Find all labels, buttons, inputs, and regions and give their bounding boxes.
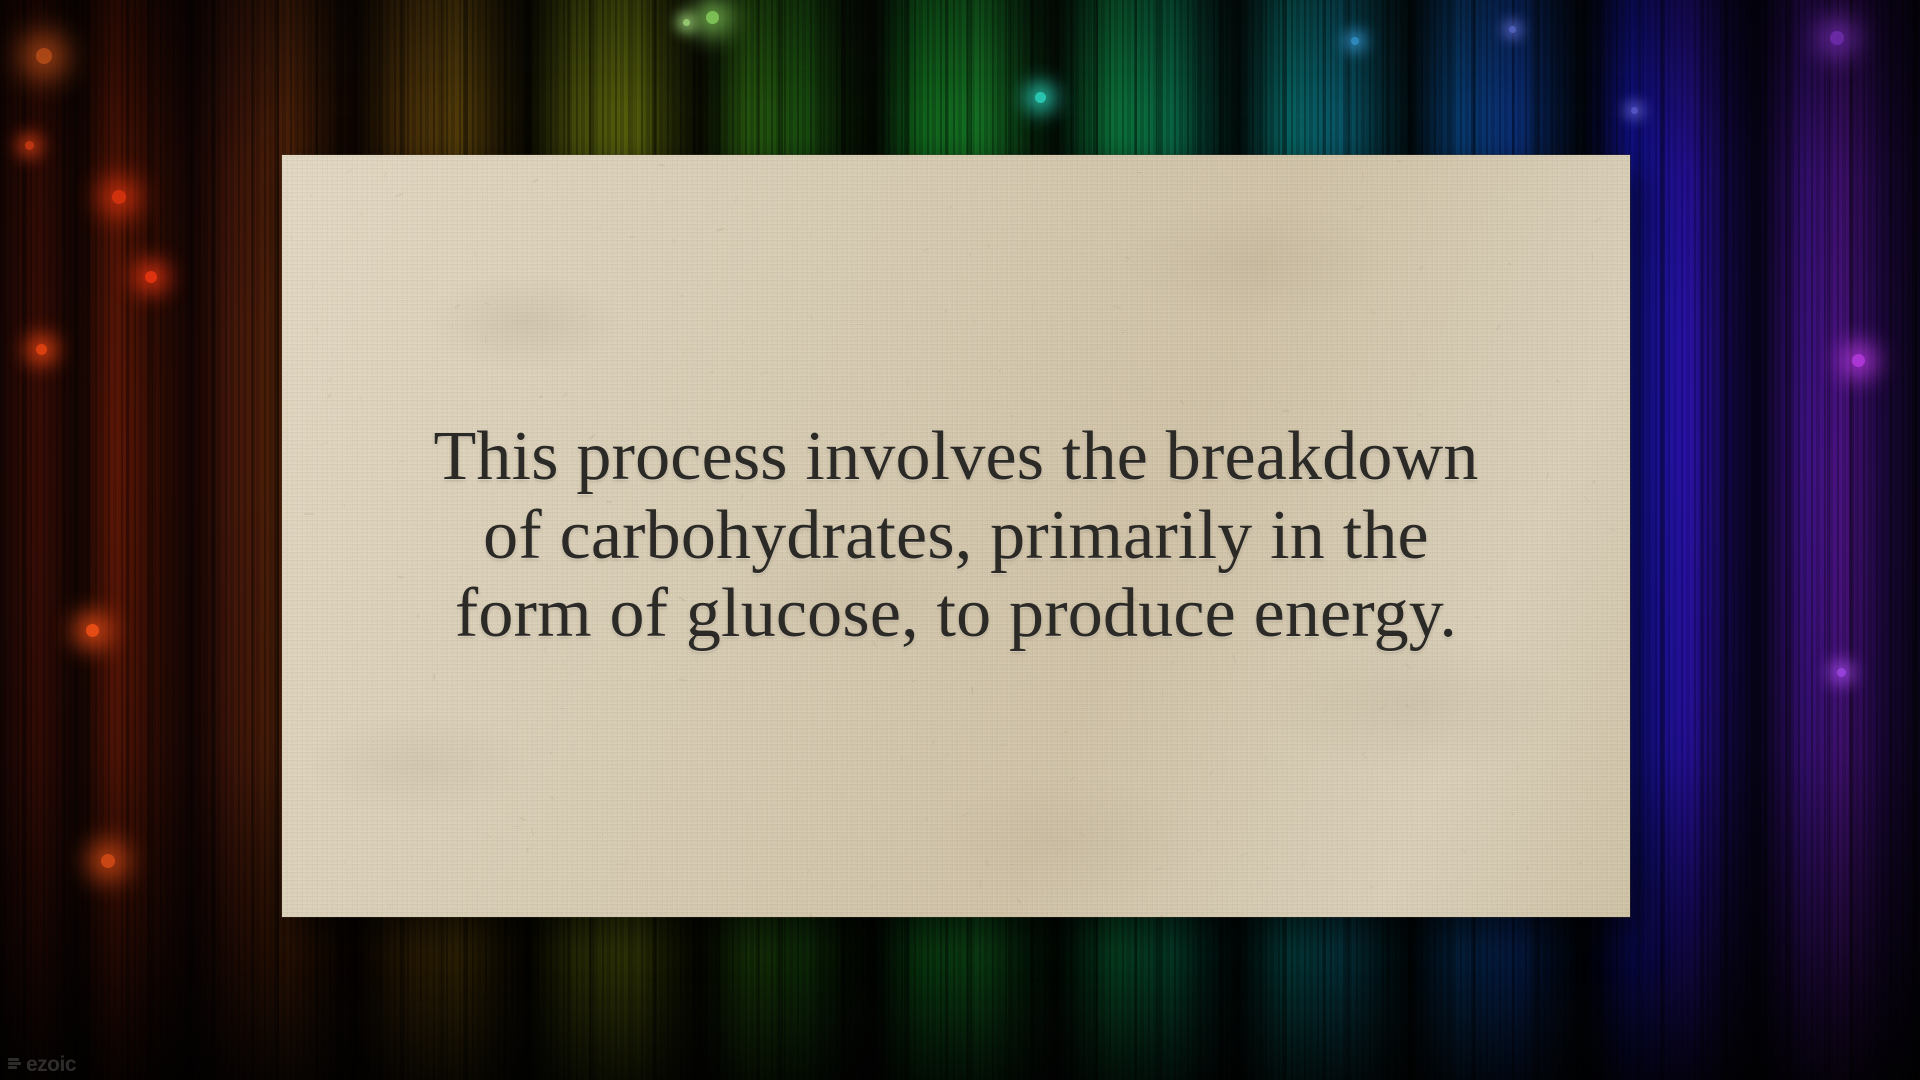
paper-fleck xyxy=(839,793,843,797)
paper-fleck xyxy=(483,301,491,305)
paper-fleck xyxy=(1593,480,1596,484)
paper-fleck xyxy=(484,833,492,839)
paper-fleck xyxy=(315,531,317,532)
paper-fleck xyxy=(817,270,819,272)
paper-fleck xyxy=(286,463,291,467)
paper-fleck xyxy=(347,168,353,173)
paper-fleck xyxy=(531,829,535,836)
paper-fleck xyxy=(310,194,312,198)
quote-card: This process involves the breakdown of c… xyxy=(282,155,1630,917)
paper-fleck xyxy=(312,281,316,288)
paper-fleck xyxy=(1353,207,1358,211)
paper-fleck xyxy=(512,699,515,703)
paper-fleck xyxy=(1380,702,1386,710)
paper-fleck xyxy=(1282,410,1290,412)
paper-fleck xyxy=(1556,379,1560,383)
paper-fleck xyxy=(359,396,363,403)
paper-fleck xyxy=(532,179,539,184)
paper-fleck xyxy=(319,441,328,446)
paper-fleck xyxy=(742,342,745,344)
paper-fleck xyxy=(1420,771,1424,777)
paper-fleck xyxy=(1210,909,1214,911)
paper-fleck xyxy=(621,398,623,400)
paper-fleck xyxy=(1358,205,1364,210)
paper-fleck xyxy=(304,513,314,515)
paper-fleck xyxy=(1571,747,1580,751)
paper-fleck xyxy=(1604,776,1605,778)
paper-fleck xyxy=(500,266,501,267)
paper-fleck xyxy=(1037,696,1040,698)
paper-fleck xyxy=(682,349,684,357)
paper-fleck xyxy=(1201,168,1207,171)
paper-fleck xyxy=(1069,776,1075,781)
paper-fleck xyxy=(290,235,292,240)
paper-fleck xyxy=(617,863,626,865)
paper-fleck xyxy=(1628,720,1630,727)
paper-fleck xyxy=(945,754,949,757)
paper-fleck xyxy=(1321,187,1322,189)
paper-fleck xyxy=(410,854,413,857)
paper-fleck xyxy=(869,886,874,888)
paper-fleck xyxy=(678,678,687,681)
paper-fleck xyxy=(733,197,737,202)
paper-fleck xyxy=(809,313,813,320)
paper-fleck xyxy=(979,880,981,889)
paper-fleck xyxy=(926,817,929,820)
paper-fleck xyxy=(1171,662,1175,665)
paper-fleck xyxy=(1216,821,1220,824)
paper-fleck xyxy=(1265,347,1268,351)
paper-fleck xyxy=(485,335,487,343)
quote-slide: This process involves the breakdown of c… xyxy=(0,0,1920,1080)
paper-fleck xyxy=(1461,849,1467,853)
paper-fleck xyxy=(1160,245,1169,247)
paper-fleck xyxy=(570,911,571,913)
paper-fleck xyxy=(1193,753,1201,758)
paper-fleck xyxy=(328,376,332,383)
paper-fleck xyxy=(999,370,1002,372)
paper-fleck xyxy=(760,370,768,375)
paper-fleck xyxy=(709,370,714,373)
paper-fleck xyxy=(1265,217,1272,221)
paper-fleck xyxy=(1511,813,1515,814)
paper-fleck xyxy=(562,662,567,668)
paper-fleck xyxy=(1078,832,1086,839)
paper-fleck xyxy=(1610,528,1617,532)
paper-fleck xyxy=(514,825,521,826)
paper-fleck xyxy=(1004,775,1008,776)
paper-fleck xyxy=(1079,253,1087,255)
paper-fleck xyxy=(1136,172,1143,174)
paper-fleck xyxy=(969,254,972,257)
paper-fleck xyxy=(316,327,319,335)
paper-fleck xyxy=(400,301,407,303)
paper-fleck xyxy=(565,673,570,674)
paper-fleck xyxy=(429,401,435,403)
paper-fleck xyxy=(948,205,951,208)
paper-fleck xyxy=(560,708,565,709)
paper-fleck xyxy=(1042,890,1044,892)
paper-fleck xyxy=(538,395,542,398)
paper-fleck xyxy=(579,313,587,318)
paper-fleck xyxy=(562,393,567,398)
paper-fleck xyxy=(694,655,699,658)
paper-fleck xyxy=(961,812,970,817)
paper-fleck xyxy=(1406,312,1409,315)
paper-fleck xyxy=(987,244,990,248)
paper-fleck xyxy=(1583,496,1589,503)
paper-fleck xyxy=(1397,160,1403,163)
paper-fleck xyxy=(1010,864,1012,865)
paper-fleck xyxy=(898,346,902,355)
paper-fleck xyxy=(395,193,404,198)
paper-fleck xyxy=(1341,355,1343,359)
paper-fleck xyxy=(1404,662,1413,670)
paper-fleck xyxy=(486,790,487,791)
paper-fleck xyxy=(348,292,355,296)
paper-fleck xyxy=(1166,857,1169,861)
paper-fleck xyxy=(1481,221,1483,224)
paper-fleck xyxy=(1179,399,1184,405)
paper-fleck xyxy=(972,318,976,324)
paper-fleck xyxy=(716,228,724,232)
paper-fleck xyxy=(1155,868,1163,870)
paper-fleck xyxy=(681,294,684,297)
paper-fleck xyxy=(298,703,302,713)
paper-fleck xyxy=(452,324,454,329)
paper-fleck xyxy=(602,835,604,837)
paper-fleck xyxy=(1369,886,1375,889)
paper-fleck xyxy=(931,739,937,744)
paper-fleck xyxy=(695,285,701,287)
paper-fleck xyxy=(1517,766,1519,770)
paper-fleck xyxy=(1496,323,1501,330)
paper-fleck xyxy=(901,755,903,762)
paper-fleck xyxy=(1122,331,1125,334)
paper-fleck xyxy=(971,687,973,694)
paper-fleck xyxy=(1196,849,1202,851)
paper-fleck xyxy=(1416,412,1424,417)
paper-fleck xyxy=(1498,264,1499,266)
paper-fleck xyxy=(1593,217,1602,223)
paper-fleck xyxy=(1529,905,1531,907)
paper-fleck xyxy=(454,303,461,309)
paper-fleck xyxy=(327,394,332,399)
paper-fleck xyxy=(433,673,436,681)
paper-fleck xyxy=(383,171,387,177)
paper-fleck xyxy=(911,679,915,683)
paper-fleck xyxy=(833,285,836,288)
paper-fleck xyxy=(389,903,392,909)
paper-fleck xyxy=(442,826,444,829)
paper-fleck xyxy=(1233,654,1237,663)
paper-fleck xyxy=(1487,415,1492,417)
paper-fleck xyxy=(594,227,603,229)
paper-fleck xyxy=(1208,771,1214,777)
paper-fleck xyxy=(996,271,1002,277)
paper-fleck xyxy=(1000,743,1007,747)
paper-fleck xyxy=(342,862,346,865)
paper-fleck xyxy=(945,309,947,313)
paper-fleck xyxy=(1369,308,1377,315)
paper-fleck xyxy=(1376,261,1378,268)
paper-fleck xyxy=(922,247,930,252)
paper-fleck xyxy=(1122,330,1129,332)
paper-fleck xyxy=(808,231,812,237)
paper-fleck xyxy=(1579,861,1583,864)
paper-fleck xyxy=(332,214,334,216)
paper-fleck xyxy=(343,503,345,507)
paper-fleck xyxy=(936,392,940,396)
paper-fleck xyxy=(331,352,333,355)
paper-fleck xyxy=(658,163,665,166)
paper-fleck xyxy=(1323,705,1327,715)
paper-fleck xyxy=(540,155,546,160)
paper-fleck xyxy=(1362,750,1366,756)
paper-fleck xyxy=(473,251,478,259)
paper-fleck xyxy=(1259,882,1260,883)
paper-fleck xyxy=(550,795,555,800)
paper-fleck xyxy=(1097,345,1100,350)
paper-fleck xyxy=(1627,317,1629,319)
paper-fleck xyxy=(1362,172,1364,179)
paper-fleck xyxy=(1239,853,1248,858)
paper-fleck xyxy=(1405,703,1410,707)
paper-fleck xyxy=(1278,401,1280,403)
paper-fleck xyxy=(1526,866,1529,870)
paper-fleck xyxy=(1125,255,1130,259)
paper-fleck xyxy=(1525,768,1527,770)
paper-fleck xyxy=(629,235,635,238)
paper-fleck xyxy=(1412,372,1415,376)
paper-fleck xyxy=(1113,306,1121,309)
paper-fleck xyxy=(617,678,620,681)
paper-fleck xyxy=(984,858,990,867)
paper-fleck xyxy=(360,212,362,215)
paper-fleck xyxy=(519,816,526,821)
paper-fleck xyxy=(1363,756,1366,759)
paper-fleck xyxy=(1318,267,1320,269)
quote-text: This process involves the breakdown of c… xyxy=(351,418,1561,653)
paper-fleck xyxy=(1031,302,1034,312)
paper-fleck xyxy=(526,848,529,853)
paper-fleck xyxy=(914,192,916,194)
paper-fleck xyxy=(1266,865,1270,869)
paper-fleck xyxy=(1064,731,1067,733)
paper-fleck xyxy=(704,832,707,834)
paper-fleck xyxy=(1203,733,1206,736)
paper-fleck xyxy=(1301,862,1306,866)
paper-fleck xyxy=(906,378,910,387)
paper-fleck xyxy=(884,229,890,235)
paper-fleck xyxy=(1591,252,1593,261)
paper-fleck xyxy=(1508,262,1511,265)
paper-fleck xyxy=(853,324,863,325)
paper-fleck xyxy=(807,869,810,874)
paper-fleck xyxy=(1475,682,1480,687)
paper-fleck xyxy=(549,752,552,755)
paper-fleck xyxy=(1266,755,1268,763)
paper-fleck xyxy=(672,237,675,244)
paper-fleck xyxy=(665,199,674,204)
paper-fleck xyxy=(1409,834,1410,839)
paper-fleck xyxy=(1058,847,1062,854)
paper-fleck xyxy=(1419,266,1424,271)
paper-fleck xyxy=(478,682,481,684)
paper-fleck xyxy=(1161,688,1164,698)
paper-fleck xyxy=(973,268,974,269)
paper-fleck xyxy=(373,740,375,742)
paper-fleck xyxy=(1038,376,1040,378)
paper-fleck xyxy=(1016,897,1022,905)
paper-fleck xyxy=(790,735,793,738)
paper-fleck xyxy=(1186,286,1188,289)
